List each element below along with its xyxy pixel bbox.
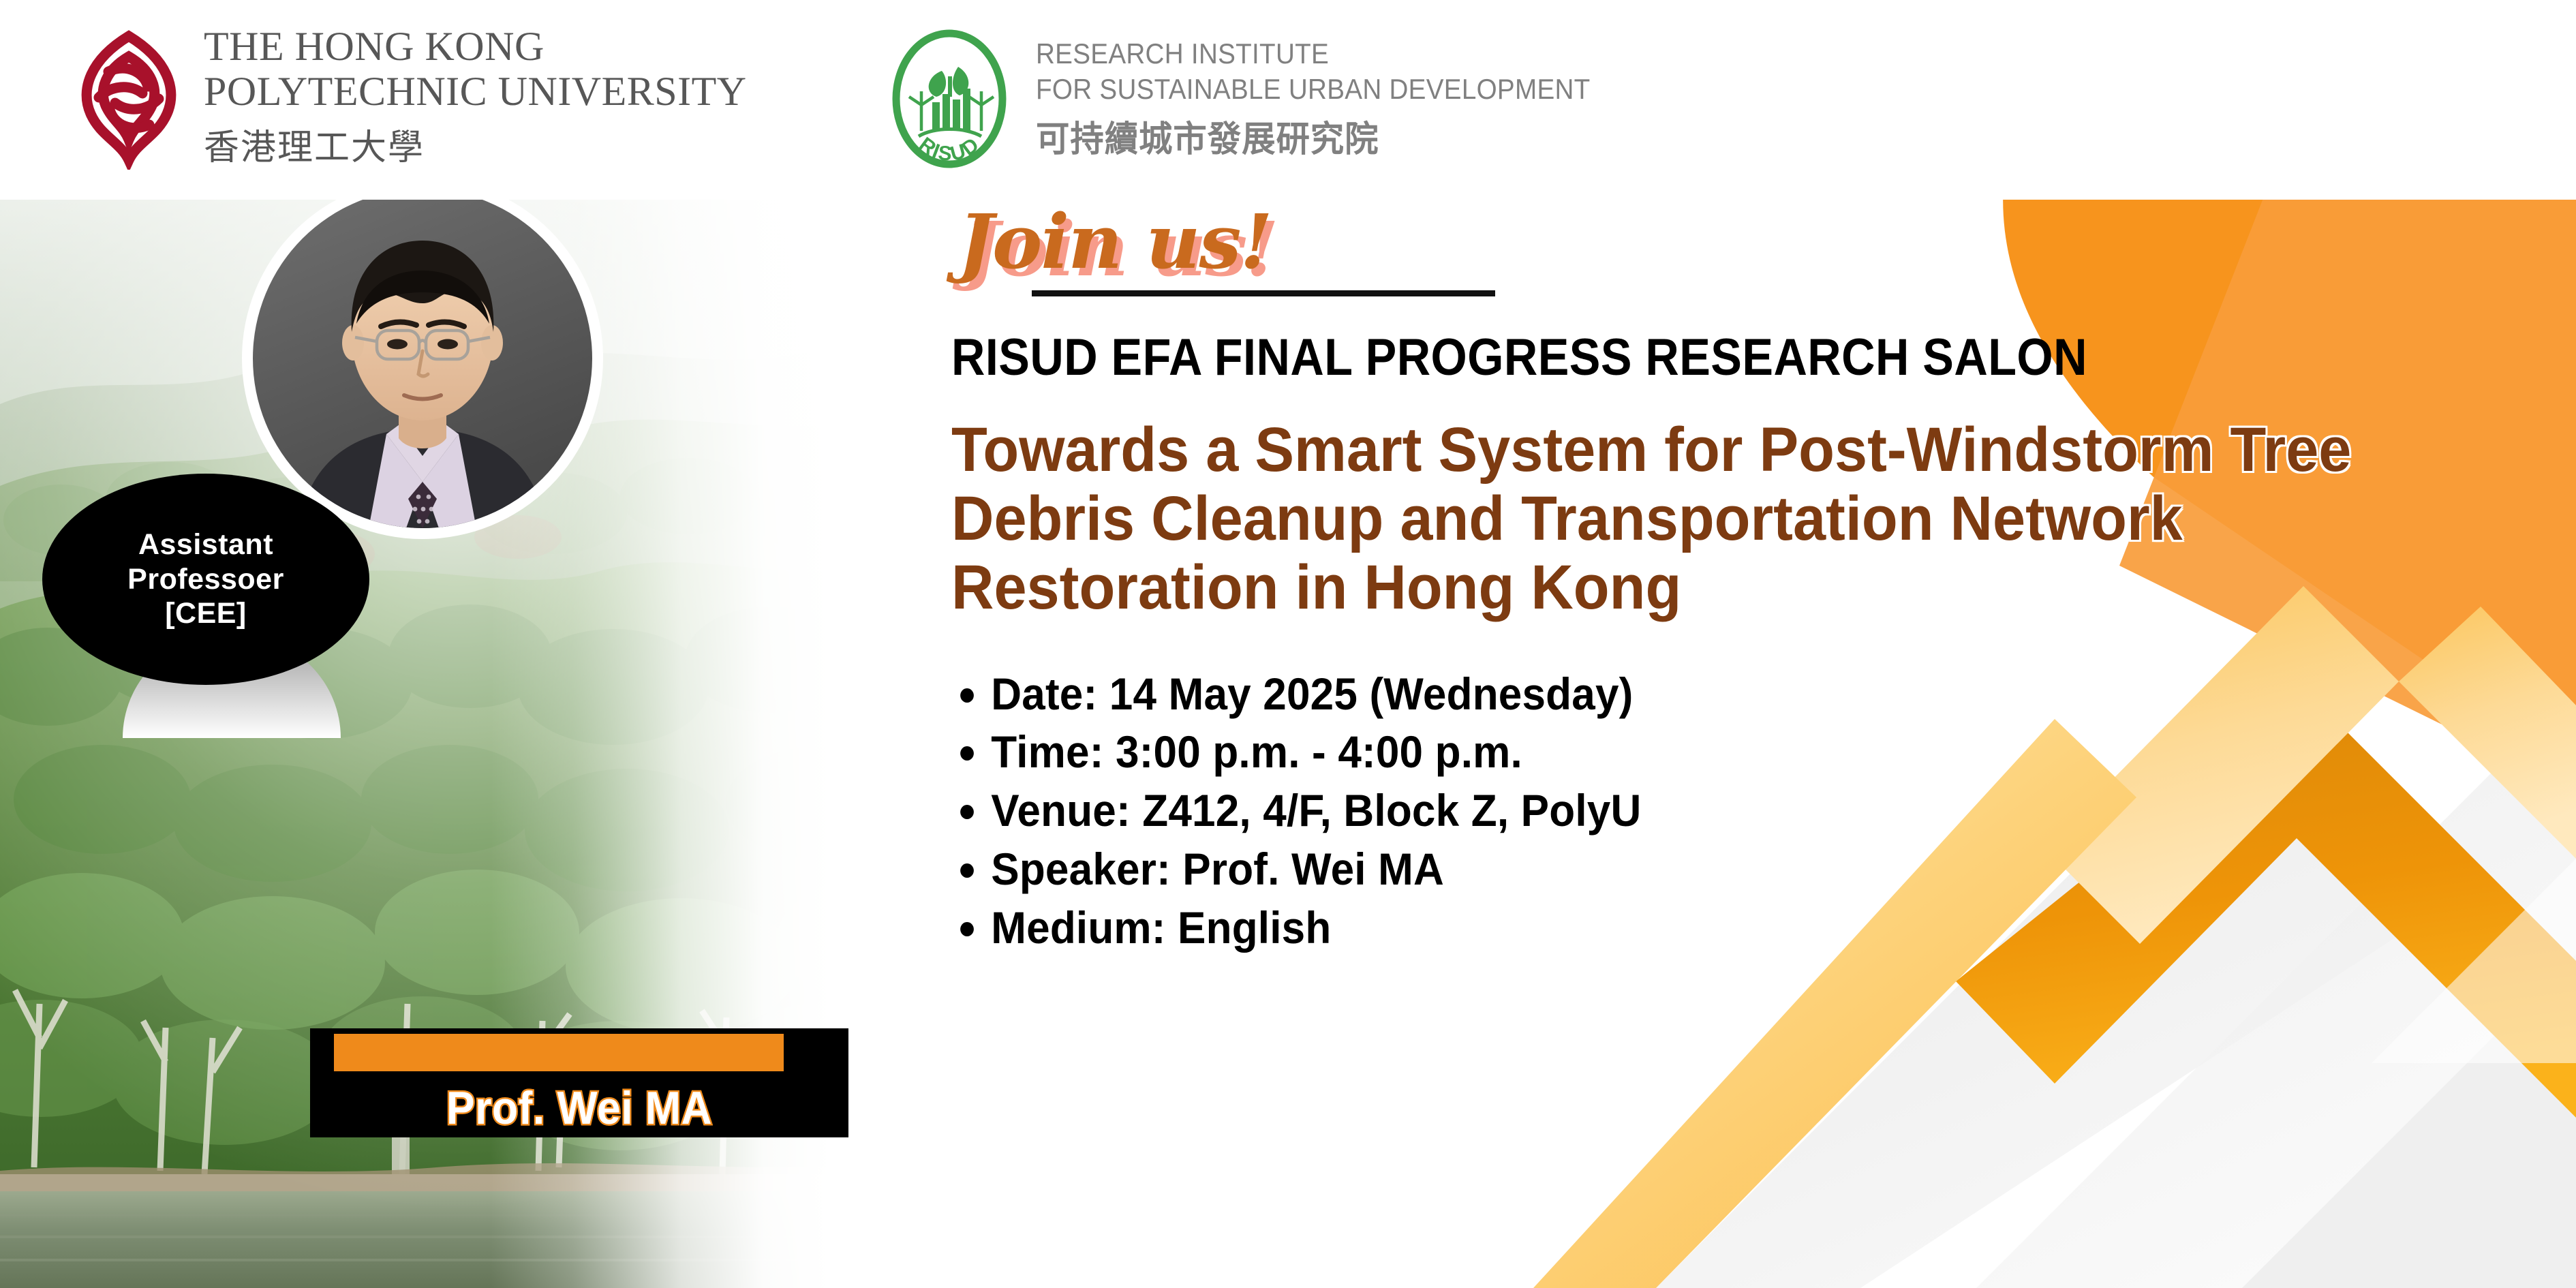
polyu-wordmark: THE HONG KONG POLYTECHNIC UNIVERSITY 香港理… bbox=[204, 26, 747, 170]
detail-speaker: Speaker: Prof. Wei MA bbox=[951, 840, 2444, 899]
detail-venue: Venue: Z412, 4/F, Block Z, PolyU bbox=[951, 782, 2444, 840]
polyu-knot-icon bbox=[72, 27, 186, 170]
event-subtitle: RISUD EFA FINAL PROGRESS RESEARCH SALON bbox=[951, 328, 2380, 387]
event-details-list: Date: 14 May 2025 (Wednesday) Time: 3:00… bbox=[951, 665, 2539, 957]
poster-root: Assistant Professoer [CEE] Prof. Wei MA bbox=[0, 0, 2576, 1288]
detail-date: Date: 14 May 2025 (Wednesday) bbox=[951, 665, 2444, 724]
join-us-kicker: Join us! bbox=[958, 204, 2539, 279]
polyu-logo: THE HONG KONG POLYTECHNIC UNIVERSITY 香港理… bbox=[72, 26, 747, 170]
speaker-photo-panel: Assistant Professoer [CEE] Prof. Wei MA bbox=[0, 200, 913, 1288]
risud-line1: RESEARCH INSTITUTE bbox=[1036, 36, 1591, 71]
detail-medium: Medium: English bbox=[951, 899, 2444, 957]
speaker-name: Prof. Wei MA bbox=[332, 1082, 827, 1135]
speaker-title-badge: Assistant Professoer [CEE] bbox=[42, 474, 369, 685]
logo-header: THE HONG KONG POLYTECHNIC UNIVERSITY 香港理… bbox=[0, 0, 2576, 200]
speaker-portrait bbox=[242, 200, 603, 539]
nameplate-accent-bar bbox=[334, 1034, 784, 1071]
portrait-image bbox=[253, 200, 592, 528]
event-content: Join us! RISUD EFA FINAL PROGRESS RESEAR… bbox=[951, 204, 2539, 957]
polyu-line2: POLYTECHNIC UNIVERSITY bbox=[204, 71, 747, 112]
speaker-nameplate: Prof. Wei MA bbox=[310, 1028, 848, 1137]
risud-wordmark: RESEARCH INSTITUTE FOR SUSTAINABLE URBAN… bbox=[1036, 36, 1638, 161]
speaker-title-text: Assistant Professoer [CEE] bbox=[127, 527, 284, 631]
risud-logo: RISUD RESEARCH INSTITUTE FOR SUSTAINABLE… bbox=[879, 29, 1638, 169]
polyu-chinese: 香港理工大學 bbox=[204, 119, 747, 170]
detail-time: Time: 3:00 p.m. - 4:00 p.m. bbox=[951, 723, 2444, 782]
risud-oval-icon: RISUD bbox=[879, 29, 1019, 169]
gray-diagonal-band-3 bbox=[2242, 954, 2576, 1288]
risud-chinese: 可持續城市發展研究院 bbox=[1036, 110, 1608, 162]
risud-line2: FOR SUSTAINABLE URBAN DEVELOPMENT bbox=[1036, 72, 1591, 106]
event-title: Towards a Smart System for Post-Windstor… bbox=[951, 416, 2361, 623]
kicker-underline bbox=[1032, 290, 1495, 296]
polyu-line1: THE HONG KONG bbox=[204, 26, 747, 67]
